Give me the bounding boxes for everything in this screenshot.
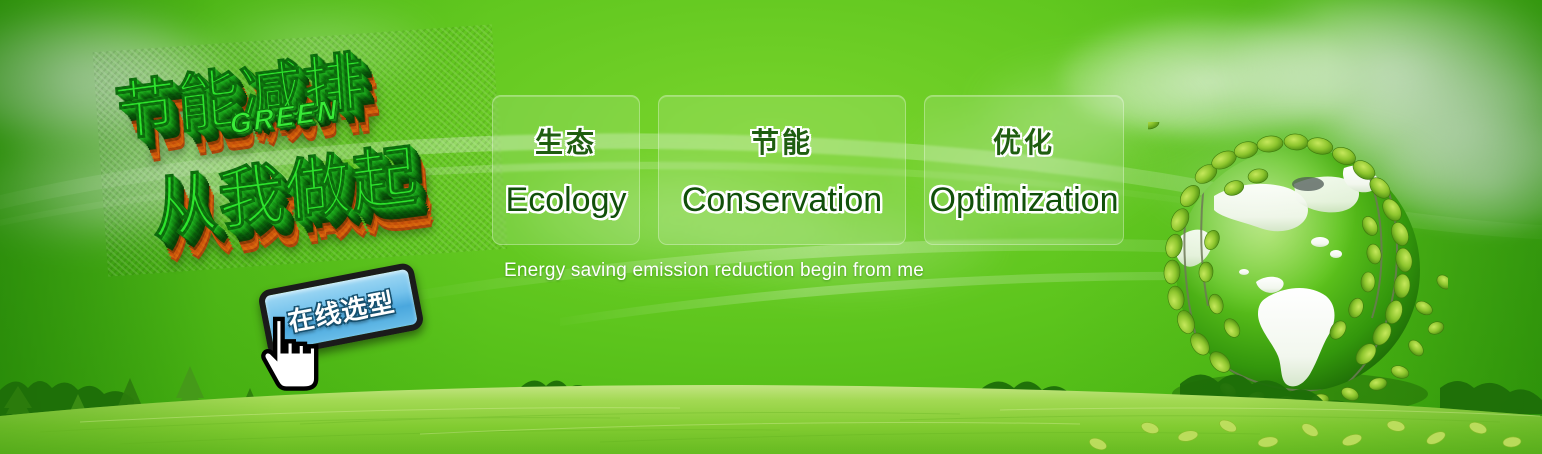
feature-card-optimization[interactable]: 优化 Optimization xyxy=(924,95,1124,245)
feature-card-cn-label: 优化 xyxy=(993,121,1055,161)
feature-card-list: 生态 Ecology 节能 Conservation 优化 Optimizati… xyxy=(492,95,1124,245)
ground-landscape xyxy=(0,324,1542,454)
feature-card-ecology[interactable]: 生态 Ecology xyxy=(492,95,640,245)
feature-card-en-label: Ecology xyxy=(506,181,627,220)
feature-card-en-label: Conservation xyxy=(682,181,882,220)
feature-card-cn-label: 节能 xyxy=(751,121,813,161)
feature-card-conservation[interactable]: 节能 Conservation xyxy=(658,95,906,245)
feature-card-cn-label: 生态 xyxy=(535,121,597,161)
feature-card-en-label: Optimization xyxy=(930,181,1119,220)
tagline-text: Energy saving emission reduction begin f… xyxy=(504,260,924,282)
eco-banner: 节能减排 GREEN 从我做起 在线选型 生态 Ecology 节能 Conse… xyxy=(0,0,1542,454)
headline-3d: 节能减排 GREEN 从我做起 xyxy=(93,24,508,276)
